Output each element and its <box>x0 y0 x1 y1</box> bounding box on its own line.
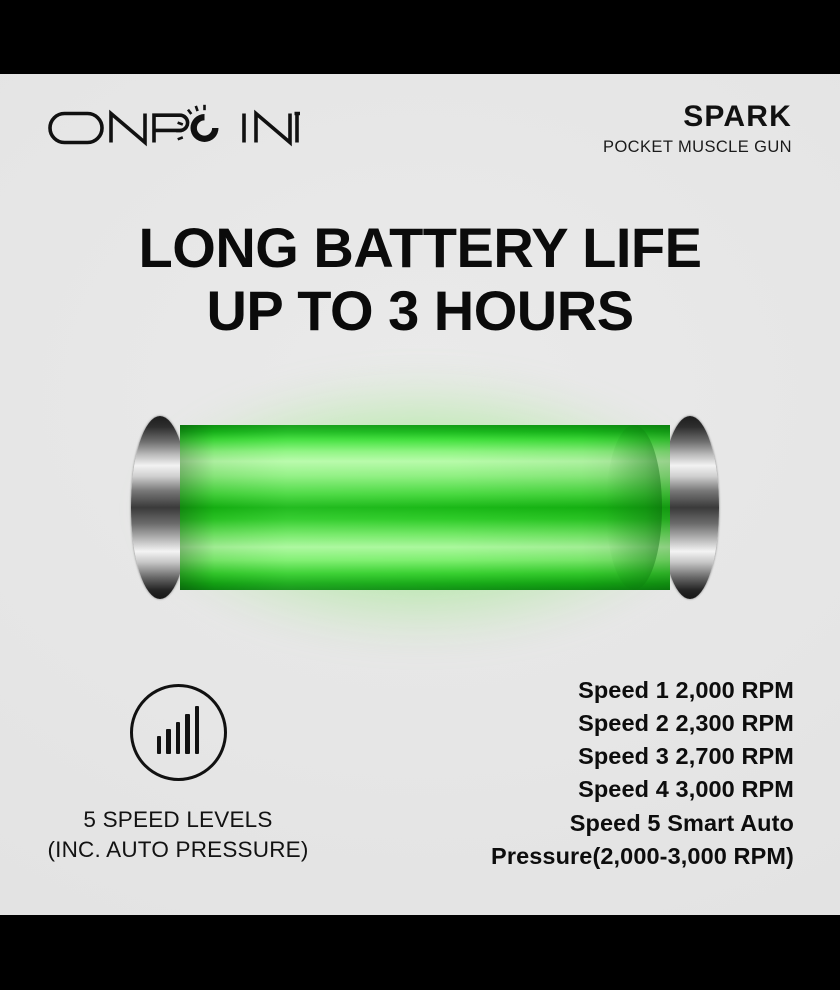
headline-line-1: LONG BATTERY LIFE <box>139 216 702 279</box>
product-infographic: SPARK POCKET MUSCLE GUN LONG BATTERY LIF… <box>0 0 840 990</box>
bar-4 <box>185 714 190 754</box>
battery-full-icon <box>120 342 720 672</box>
list-item: Speed 1 2,000 RPM <box>434 674 794 707</box>
speed-levels-caption-line-2: (INC. AUTO PRESSURE) <box>22 835 334 865</box>
brand-block: SPARK POCKET MUSCLE GUN <box>603 102 792 156</box>
poster-stage: SPARK POCKET MUSCLE GUN LONG BATTERY LIF… <box>0 74 840 915</box>
headline-line-2: UP TO 3 HOURS <box>0 280 840 343</box>
battery-charge-fill <box>180 425 670 590</box>
bar-5 <box>195 706 200 754</box>
bar-3 <box>176 722 181 754</box>
letterbox-top <box>0 0 840 74</box>
bar-group <box>157 706 200 754</box>
speed-levels-caption-line-1: 5 SPEED LEVELS <box>22 805 334 835</box>
page-title: LONG BATTERY LIFE UP TO 3 HOURS <box>0 217 840 342</box>
signal-bars-icon <box>130 684 227 781</box>
letterbox-bottom <box>0 915 840 990</box>
speed-levels-feature: 5 SPEED LEVELS (INC. AUTO PRESSURE) <box>22 684 334 864</box>
list-item: Speed 4 3,000 RPM <box>434 773 794 806</box>
bar-2 <box>166 729 171 754</box>
list-item: Pressure(2,000-3,000 RPM) <box>434 840 794 873</box>
onpoint-logo <box>48 100 300 156</box>
speed-levels-caption: 5 SPEED LEVELS (INC. AUTO PRESSURE) <box>22 805 334 864</box>
bar-1 <box>157 736 162 754</box>
battery-inner-shadow <box>606 425 662 590</box>
speed-rpm-list: Speed 1 2,000 RPM Speed 2 2,300 RPM Spee… <box>434 674 794 873</box>
brand-subtitle: POCKET MUSCLE GUN <box>603 139 792 156</box>
brand-name: SPARK <box>603 102 792 132</box>
list-item: Speed 3 2,700 RPM <box>434 740 794 773</box>
list-item: Speed 5 Smart Auto <box>434 807 794 840</box>
battery-sheen <box>180 425 670 590</box>
battery-body <box>160 425 690 590</box>
list-item: Speed 2 2,300 RPM <box>434 707 794 740</box>
